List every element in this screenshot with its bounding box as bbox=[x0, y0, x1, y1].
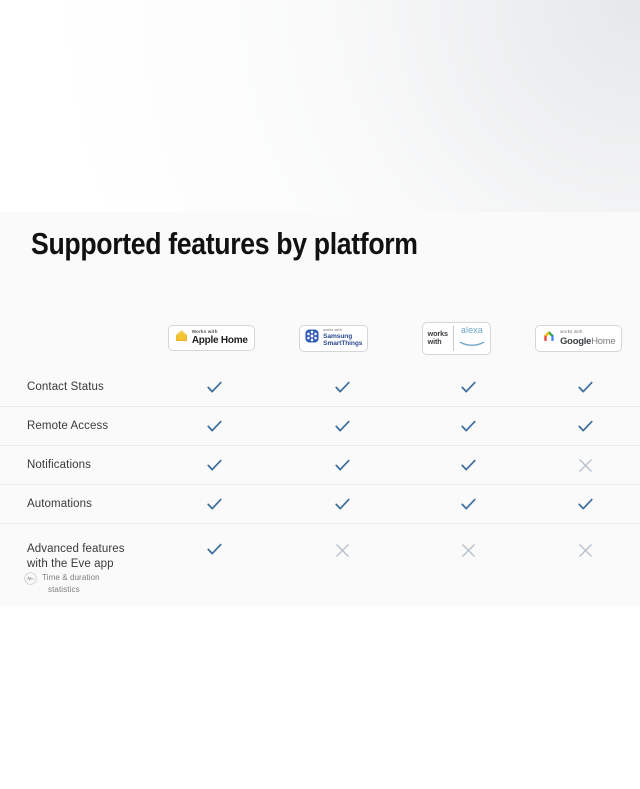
apple-home-name: Apple Home bbox=[192, 336, 248, 346]
smartthings-name-line2: SmartThings bbox=[323, 341, 362, 348]
support-cell-advanced-features-apple-home bbox=[150, 524, 278, 606]
alexa-works-with-text: works with bbox=[428, 330, 448, 346]
support-cell-remote-access-alexa bbox=[406, 407, 531, 445]
check-icon bbox=[207, 498, 222, 511]
check-icon bbox=[578, 498, 593, 511]
google-home-name: GoogleHome bbox=[560, 336, 615, 345]
smartthings-badge-text: works with Samsung SmartThings bbox=[323, 329, 362, 348]
cross-icon bbox=[578, 458, 593, 473]
google-home-name-bold: Google bbox=[560, 335, 591, 346]
google-home-name-light: Home bbox=[591, 335, 615, 346]
feature-label-advanced-features: Advanced features with the Eve app bbox=[0, 524, 150, 572]
cross-icon bbox=[578, 543, 593, 558]
check-icon bbox=[578, 381, 593, 394]
support-cell-contact-status-smartthings bbox=[278, 368, 406, 406]
table-header-row: Works with Apple Home bbox=[0, 308, 640, 368]
platform-column-smartthings: works with Samsung SmartThings bbox=[273, 325, 396, 352]
support-cell-notifications-alexa bbox=[406, 446, 531, 484]
feature-label-contact-status: Contact Status bbox=[0, 380, 150, 395]
check-icon bbox=[335, 420, 350, 433]
subnote-line1: Time & duration bbox=[42, 572, 100, 584]
support-cell-automations-google-home bbox=[531, 485, 640, 523]
cross-icon bbox=[461, 543, 476, 558]
advanced-features-line2: with the Eve app bbox=[27, 557, 150, 572]
advanced-features-line1: Advanced features bbox=[27, 542, 150, 557]
support-cell-advanced-features-alexa bbox=[406, 524, 531, 606]
features-comparison-table: Works with Apple Home bbox=[0, 308, 640, 606]
table-row: Automations bbox=[0, 485, 640, 524]
support-cell-automations-smartthings bbox=[278, 485, 406, 523]
supported-features-panel: Supported features by platform Works wit… bbox=[0, 212, 640, 606]
subnote-text: Time & duration statistics bbox=[42, 572, 100, 596]
google-home-house-icon bbox=[542, 329, 556, 348]
support-cell-automations-alexa bbox=[406, 485, 531, 523]
platform-column-google-home: works with GoogleHome bbox=[518, 325, 640, 352]
badge-google-home: works with GoogleHome bbox=[535, 325, 622, 352]
page-title: Supported features by platform bbox=[31, 226, 418, 262]
support-cell-contact-status-apple-home bbox=[150, 368, 278, 406]
check-icon bbox=[461, 381, 476, 394]
feature-label-remote-access: Remote Access bbox=[0, 419, 150, 434]
platform-column-alexa: works with alexa bbox=[395, 322, 518, 355]
table-row: Remote Access bbox=[0, 407, 640, 446]
table-row: Notifications bbox=[0, 446, 640, 485]
badge-samsung-smartthings: works with Samsung SmartThings bbox=[299, 325, 368, 352]
apple-home-badge-text: Works with Apple Home bbox=[192, 330, 248, 345]
check-icon bbox=[207, 420, 222, 433]
check-icon bbox=[578, 420, 593, 433]
support-cell-remote-access-google-home bbox=[531, 407, 640, 445]
badge-amazon-alexa: works with alexa bbox=[422, 322, 491, 355]
support-cell-remote-access-apple-home bbox=[150, 407, 278, 445]
table-row: Contact Status bbox=[0, 368, 640, 407]
statistics-waveform-icon bbox=[24, 572, 37, 590]
support-cell-contact-status-alexa bbox=[406, 368, 531, 406]
check-icon bbox=[207, 381, 222, 394]
check-icon bbox=[461, 498, 476, 511]
check-icon bbox=[207, 543, 222, 556]
smartthings-badge-icon bbox=[305, 329, 319, 348]
feature-label-notifications: Notifications bbox=[0, 458, 150, 473]
support-cell-notifications-apple-home bbox=[150, 446, 278, 484]
support-cell-advanced-features-google-home bbox=[531, 524, 640, 606]
google-home-badge-text: works with GoogleHome bbox=[560, 330, 615, 345]
cross-icon bbox=[335, 543, 350, 558]
alexa-name: alexa bbox=[461, 326, 483, 335]
table-row: Advanced features with the Eve app Time … bbox=[0, 524, 640, 606]
support-cell-notifications-google-home bbox=[531, 446, 640, 484]
check-icon bbox=[461, 459, 476, 472]
feature-label-automations: Automations bbox=[0, 497, 150, 512]
support-cell-notifications-smartthings bbox=[278, 446, 406, 484]
alexa-works-line2: with bbox=[428, 338, 448, 346]
google-home-works-with: works with bbox=[560, 330, 615, 334]
support-cell-remote-access-smartthings bbox=[278, 407, 406, 445]
apple-home-house-icon bbox=[175, 329, 188, 347]
support-cell-contact-status-google-home bbox=[531, 368, 640, 406]
support-cell-automations-apple-home bbox=[150, 485, 278, 523]
alexa-badge-divider bbox=[453, 326, 454, 351]
smartthings-works-with: works with bbox=[323, 329, 362, 333]
platform-column-apple-home: Works with Apple Home bbox=[150, 325, 273, 351]
advanced-features-subnote: Time & duration statistics bbox=[24, 572, 100, 596]
check-icon bbox=[335, 498, 350, 511]
check-icon bbox=[207, 459, 222, 472]
alexa-smile-icon bbox=[459, 335, 485, 351]
subnote-line2: statistics bbox=[42, 584, 100, 596]
check-icon bbox=[335, 459, 350, 472]
check-icon bbox=[461, 420, 476, 433]
advanced-features-label-group: Advanced features with the Eve app Time … bbox=[0, 524, 150, 572]
check-icon bbox=[335, 381, 350, 394]
alexa-logo: alexa bbox=[459, 326, 485, 351]
support-cell-advanced-features-smartthings bbox=[278, 524, 406, 606]
badge-apple-home: Works with Apple Home bbox=[168, 325, 255, 351]
